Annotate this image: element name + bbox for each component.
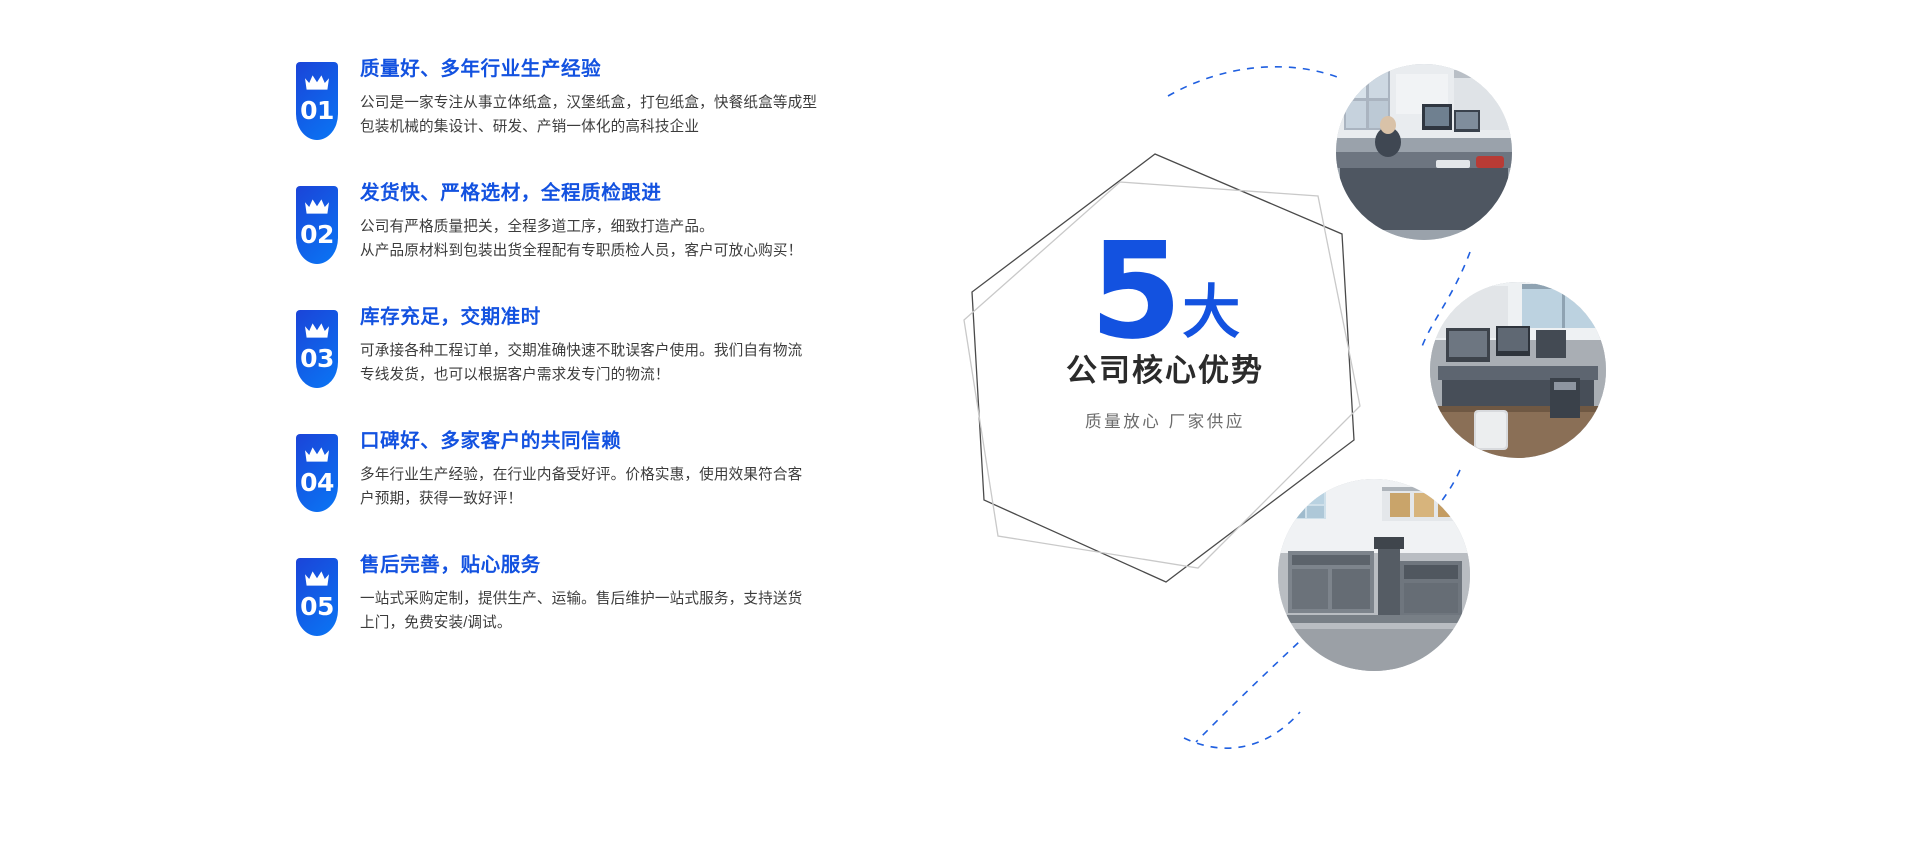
office-workstation-photo[interactable] (1336, 64, 1512, 240)
photo-cluster (0, 0, 1920, 847)
office-interior-photo[interactable] (1430, 282, 1606, 458)
advantages-banner: 01 质量好、多年行业生产经验 公司是一家专注从事立体纸盒，汉堡纸盒，打包纸盒，… (0, 0, 1920, 847)
photo-artwork (1336, 64, 1512, 240)
production-machine-photo[interactable] (1278, 479, 1470, 671)
photo-artwork (1278, 479, 1470, 671)
photo-artwork (1430, 282, 1606, 458)
